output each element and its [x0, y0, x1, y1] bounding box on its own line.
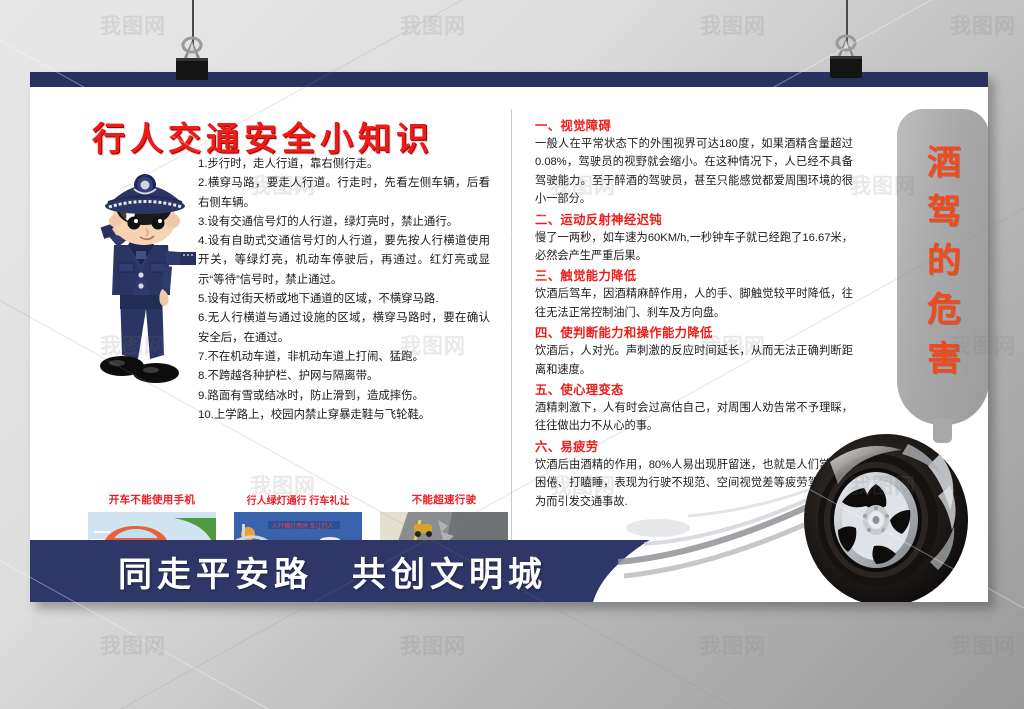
sign-text: 酒 驾 的 危 害: [883, 139, 988, 384]
rule-item: 6.无人行横道与通过设施的区域，横穿马路时，要在确认安全后，在通过。: [198, 309, 490, 348]
watermark-text: 我图网: [100, 630, 166, 660]
board-content: 行人交通安全小知识: [30, 87, 988, 602]
sign-char: 害: [883, 335, 988, 384]
section-heading: 五、使心理变态: [535, 380, 853, 398]
picture-caption: 不能超速行驶: [380, 492, 508, 507]
watermark-text: 我图网: [950, 630, 1016, 660]
section-body: 慢了一两秒，如车速为60KM/h,一秒钟车子就已经跑了16.67米，必然会产生严…: [535, 229, 853, 266]
rule-item: 8.不跨越各种护栏、护网与隔离带。: [198, 367, 490, 386]
watermark-text: 我图网: [400, 10, 466, 40]
slogan-text: 同走平安路 共创文明城: [118, 547, 547, 596]
rule-item: 4.设有自助式交通信号灯的人行道，要先按人行横道使用开关，等绿灯亮，机动车停驶后…: [198, 232, 490, 290]
vertical-warning-sign: 酒 驾 的 危 害: [883, 109, 988, 449]
watermark-text: 我图网: [400, 630, 466, 660]
section-heading: 四、使判断能力和操作能力降低: [535, 323, 853, 341]
watermark-text: 我图网: [950, 10, 1016, 40]
pedestrian-rules-list: 1.步行时，走人行道，靠右侧行走。 2.横穿马路，要走人行道。行走时，先看左侧车…: [198, 155, 490, 425]
column-divider: [511, 109, 512, 549]
saluting-traffic-police-cartoon: [76, 159, 206, 409]
section-body: 饮酒后，人对光。声刺激的反应时间延长，从而无法正确判断距离和速度。: [535, 342, 853, 379]
rule-item: 10.上学路上，校园内禁止穿暴走鞋与飞轮鞋。: [198, 406, 490, 425]
rule-item: 3.设有交通信号灯的人行道，绿灯亮时，禁止通行。: [198, 213, 490, 232]
rule-item: 2.横穿马路，要走人行道。行走时，先看左侧车辆，后看右侧车辆。: [198, 174, 490, 213]
left-column: 1.步行时，走人行道，靠右侧行走。 2.横穿马路，要走人行道。行走时，先看左侧车…: [30, 87, 511, 602]
sign-char: 的: [883, 237, 988, 286]
rule-item: 1.步行时，走人行道，靠右侧行走。: [198, 155, 490, 174]
binder-clip-left: [160, 36, 224, 80]
binder-clip-right: [814, 34, 878, 78]
sign-char: 危: [883, 286, 988, 335]
svg-text:人行横灯亮时 车让行人: 人行横灯亮时 车让行人: [272, 522, 334, 530]
poster-board: 行人交通安全小知识: [30, 72, 988, 602]
sign-char: 驾: [883, 188, 988, 237]
rule-item: 7.不在机动车道，非机动车道上打闹、猛跑。: [198, 348, 490, 367]
section-body: 一般人在平常状态下的外围视界可达180度，如果酒精含量超过0.08%，驾驶员的视…: [535, 135, 853, 209]
section-body: 饮酒后驾车，因酒精麻醉作用，人的手、脚触觉较平时降低，往往无法正常控制油门、刹车…: [535, 285, 853, 322]
watermark-text: 我图网: [700, 10, 766, 40]
section-heading: 二、运动反射神经迟钝: [535, 210, 853, 228]
section-heading: 一、视觉障碍: [535, 116, 853, 134]
car-tire-illustration: [790, 428, 980, 602]
rule-item: 5.设有过街天桥或地下通道的区域，不横穿马路.: [198, 290, 490, 309]
picture-caption: 行人绿灯通行 行车礼让: [234, 492, 362, 507]
watermark-text: 我图网: [100, 10, 166, 40]
section-heading: 三、触觉能力降低: [535, 266, 853, 284]
rule-item: 9.路面有雪或结冰时，防止滑到，造成摔伤。: [198, 387, 490, 406]
watermark-text: 我图网: [700, 630, 766, 660]
picture-caption: 开车不能使用手机: [88, 492, 216, 507]
sign-char: 酒: [883, 139, 988, 188]
